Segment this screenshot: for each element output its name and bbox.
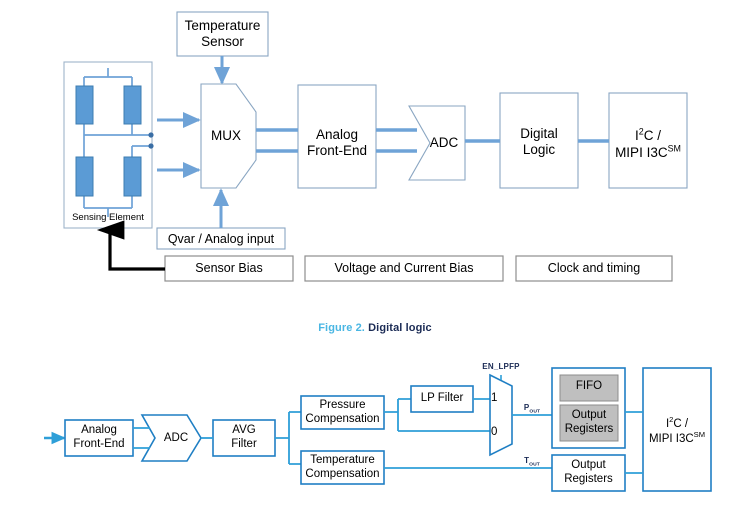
b-interface-line1: I2C / <box>666 418 688 430</box>
temperature-comp-line2: Compensation <box>305 468 379 480</box>
bridge-taps <box>132 132 154 148</box>
sensing-element-label: Sensing Element <box>64 212 152 223</box>
temperature-sensor-label-line1: Temperature <box>185 18 261 33</box>
mux-input-low-label: 0 <box>491 426 505 440</box>
b-interface-line2: MIPI I3CSM <box>649 433 705 445</box>
p-out-subscript: OUT <box>529 410 540 415</box>
avg-split-wire <box>275 412 301 464</box>
figure-title: Digital logic <box>368 322 432 334</box>
digital-logic-label: Digital Logic <box>500 126 578 158</box>
temperature-comp-line1: Temperature <box>310 454 375 466</box>
avg-filter-label-line2: Filter <box>231 438 257 450</box>
outreg-t-line1: Output <box>571 459 606 471</box>
b-interface-label: I2C / MIPI I3CSM <box>641 416 713 447</box>
outreg-p-line1: Output <box>572 409 607 421</box>
digital-logic-label-line1: Digital <box>520 126 558 141</box>
outreg-t-line2: Registers <box>564 473 613 485</box>
lp-filter-label: LP Filter <box>411 392 473 406</box>
avg-filter-label-line1: AVG <box>232 424 255 436</box>
en-lpfp-label: EN_LPFP <box>470 362 532 371</box>
mux-input-high-label: 1 <box>491 392 505 406</box>
sensor-bias-label: Sensor Bias <box>165 261 293 276</box>
figure-caption: Figure 2. Digital logic <box>0 322 750 334</box>
temperature-sensor-label: Temperature Sensor <box>177 18 268 50</box>
b-mux-shape <box>490 375 512 455</box>
output-registers-pressure-label: Output Registers <box>558 409 620 436</box>
mux-label: MUX <box>201 128 251 144</box>
b-adc-label: ADC <box>155 432 197 446</box>
interface-label-line2: MIPI I3CSM <box>615 145 681 160</box>
temperature-compensation-label: Temperature Compensation <box>299 454 386 481</box>
resistor <box>76 86 141 196</box>
t-out-label: TOUT <box>514 456 550 468</box>
temperature-sensor-label-line2: Sensor <box>201 34 244 49</box>
b-afe-label-line1: Analog <box>81 424 117 436</box>
clock-timing-label: Clock and timing <box>516 261 672 276</box>
outreg-p-line2: Registers <box>565 423 614 435</box>
interface-label: I2C / MIPI I3CSM <box>606 126 690 161</box>
b-analog-front-end-label: Analog Front-End <box>62 424 136 451</box>
digital-logic-label-line2: Logic <box>523 142 555 157</box>
pressure-compensation-label: Pressure Compensation <box>299 399 386 426</box>
t-out-subscript: OUT <box>529 463 540 468</box>
voltage-current-bias-label: Voltage and Current Bias <box>305 261 503 276</box>
diagram-canvas: Sensing Element Temperature Sensor MUX A… <box>0 0 750 507</box>
analog-front-end-label-line2: Front-End <box>307 143 367 158</box>
pressure-comp-line2: Compensation <box>305 413 379 425</box>
analog-front-end-label: Analog Front-End <box>295 127 379 159</box>
adc-label: ADC <box>420 135 468 151</box>
output-registers-temperature-label: Output Registers <box>554 459 623 486</box>
b-afe-label-line2: Front-End <box>73 438 124 450</box>
qvar-input-label: Qvar / Analog input <box>157 232 285 247</box>
fifo-label: FIFO <box>560 380 618 394</box>
p-out-label: POUT <box>514 403 550 415</box>
interface-label-line1: I2C / <box>635 128 661 143</box>
analog-front-end-label-line1: Analog <box>316 127 358 142</box>
pressure-comp-line1: Pressure <box>319 399 365 411</box>
figure-number: Figure 2. <box>318 322 365 334</box>
avg-filter-label: AVG Filter <box>213 424 275 451</box>
